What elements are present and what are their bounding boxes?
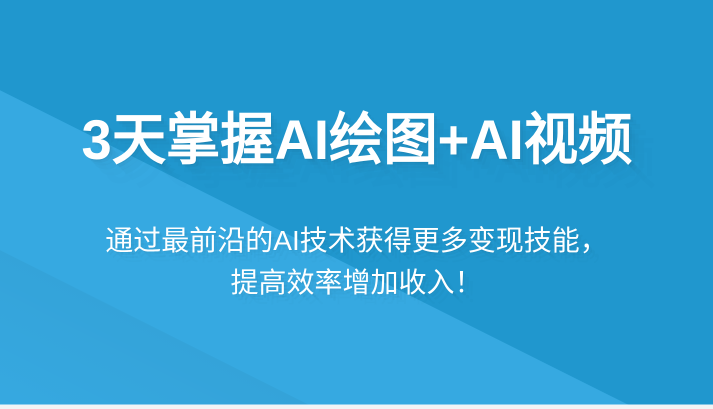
banner-subtitle-line-1: 通过最前沿的AI技术获得更多变现技能， xyxy=(105,220,607,262)
banner-subtitle-line-2: 提高效率增加收入！ xyxy=(105,262,607,304)
promo-banner: 3天掌握AI绘图+AI视频 通过最前沿的AI技术获得更多变现技能， 提高效率增加… xyxy=(0,0,713,409)
bottom-strip xyxy=(0,405,713,409)
banner-content: 3天掌握AI绘图+AI视频 通过最前沿的AI技术获得更多变现技能， 提高效率增加… xyxy=(0,0,713,409)
banner-title: 3天掌握AI绘图+AI视频 xyxy=(81,108,632,172)
banner-subtitle: 通过最前沿的AI技术获得更多变现技能， 提高效率增加收入！ xyxy=(105,220,607,304)
